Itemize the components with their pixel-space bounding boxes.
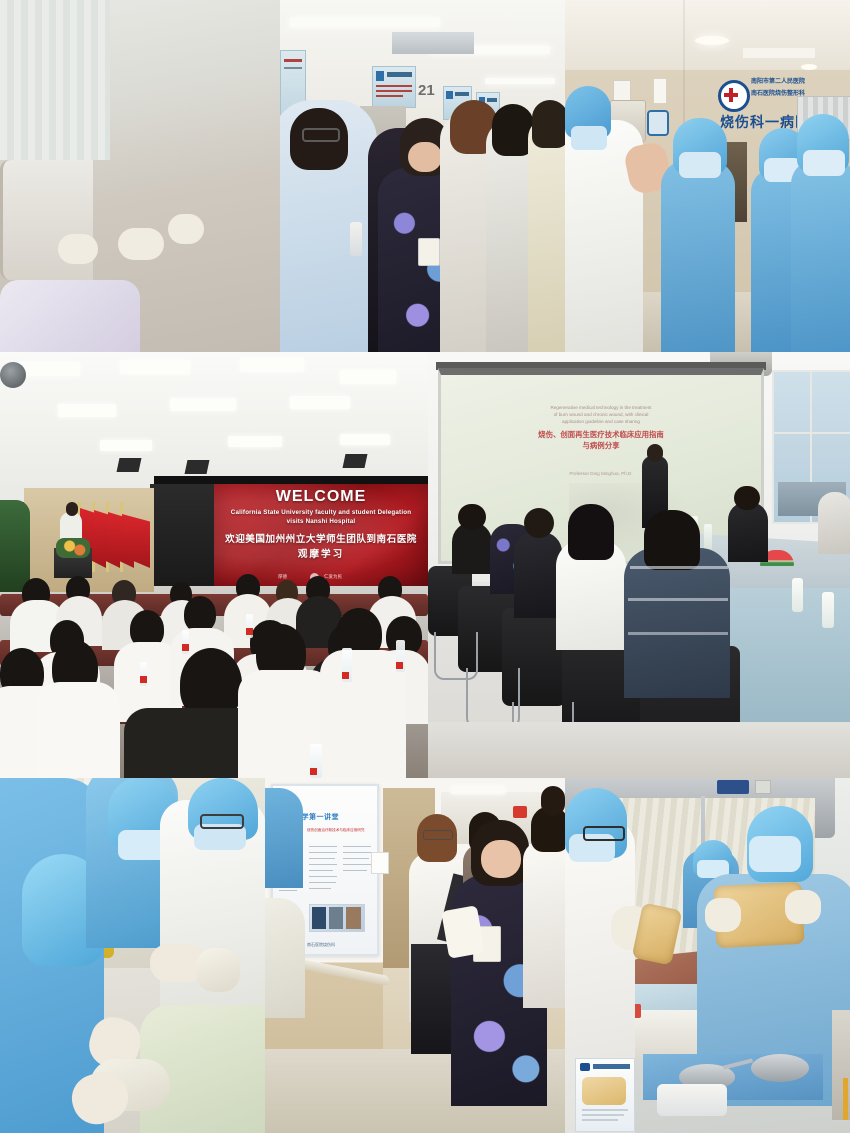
corridor-sign-nursing xyxy=(372,66,416,108)
hall-light-7 xyxy=(290,396,350,409)
poster-photo-strip xyxy=(309,904,365,932)
photo-skin-graft-demo: Nurse in blue gown holding up a sheet of… xyxy=(565,778,850,1133)
collage-row-1: Two medical staff in blue surgical caps … xyxy=(0,0,850,352)
box-product-image xyxy=(582,1077,626,1105)
water-bottle-4 xyxy=(342,648,352,682)
water-bottle-5 xyxy=(396,640,405,672)
photo-hallway-tour: 生命科学第一讲堂 烧伤创面治疗新技术与临床应用研究 xyxy=(265,778,565,1133)
scene-delegation-corridor: 21 xyxy=(280,0,565,352)
slide-title-en-2: of burn wound and chronic wound, with cl… xyxy=(460,412,742,418)
attendee-3 xyxy=(514,532,562,618)
podium-flowers xyxy=(56,538,90,558)
poster-subheadline: 烧伤创面治疗新技术与临床应用研究 xyxy=(307,828,371,833)
equipment-panel xyxy=(717,780,749,794)
potted-plant xyxy=(0,500,30,592)
room-number: 21 xyxy=(418,82,440,108)
nurse-gloved-hand-left xyxy=(705,898,741,932)
collage-row-3: Three clinicians in blue gowns and caps … xyxy=(0,778,850,1133)
water-bottle-3 xyxy=(246,614,253,638)
hall-light-5 xyxy=(58,404,116,417)
nurse-mask xyxy=(749,836,801,872)
scene-burn-dressing xyxy=(0,0,280,352)
polo-stripe-1 xyxy=(630,566,728,569)
ward-ceiling xyxy=(565,0,850,70)
exit-sign xyxy=(513,806,527,818)
photo-welcome-ceremony: WELCOME California State University facu… xyxy=(0,352,428,778)
nurse-3-mask xyxy=(803,150,845,176)
water-bottle-1 xyxy=(140,662,147,686)
audience-body-16 xyxy=(36,682,120,778)
slide-title-cn-1: 烧伤、创面再生医疗技术临床应用指南 xyxy=(473,430,729,440)
instrument-bowl-2 xyxy=(751,1054,809,1082)
delegate-yellow-top xyxy=(528,118,565,352)
hall-light-2 xyxy=(120,360,190,374)
delegate-white-shirt xyxy=(523,840,565,1008)
water-bottle-c6 xyxy=(792,578,803,612)
wall-notice-2 xyxy=(653,78,667,104)
ac-vent xyxy=(392,32,474,54)
water-bottle-c3 xyxy=(704,524,712,550)
window-curtain xyxy=(0,0,110,160)
welcome-chinese-2: 观摩学习 xyxy=(214,546,428,560)
photo-burn-ward-briefing: 南阳市第二人民医院 南石医院烧伤整形科 烧伤科一病区 xyxy=(565,0,850,352)
presenter-head xyxy=(647,444,663,462)
photo-burn-dressing-bedside: Two medical staff in blue surgical caps … xyxy=(0,0,280,352)
marker-pen-icon xyxy=(843,1078,848,1120)
polo-stripe-2 xyxy=(628,598,728,601)
patient-in-bed xyxy=(265,898,305,1018)
glasses-icon xyxy=(423,830,453,840)
attendee-1-head xyxy=(458,504,486,530)
hall-light-4 xyxy=(340,370,396,384)
screen-frame-top xyxy=(154,476,428,484)
slide-title-cn-2: 与病例分享 xyxy=(473,441,729,451)
safety-pictogram xyxy=(647,110,669,136)
glasses-icon xyxy=(302,128,340,142)
scene-hallway-tour: 生命科学第一讲堂 烧伤创面治疗新技术与临床应用研究 xyxy=(265,778,565,1133)
sterile-wrap xyxy=(657,1084,727,1116)
conference-floor xyxy=(428,722,850,778)
slide-title-en-3: application guideline and case sharing xyxy=(460,419,742,425)
poster-footer: 南石医院烧伤科 xyxy=(307,942,335,948)
glasses-icon xyxy=(200,814,244,829)
hall-light-10 xyxy=(340,434,390,445)
attendee-6 xyxy=(728,502,768,562)
scene-bedside-treatment xyxy=(0,778,265,1133)
audience-body-19 xyxy=(320,650,406,778)
stage-light-1 xyxy=(117,458,142,472)
delegate-floral-face xyxy=(408,142,442,172)
hall-light-6 xyxy=(170,398,236,411)
product-box xyxy=(575,1058,635,1132)
water-bottle xyxy=(350,222,362,256)
name-badge xyxy=(418,238,440,266)
welcome-subline-1: California State University faculty and … xyxy=(214,509,428,516)
ceiling-downlight-1 xyxy=(695,36,729,45)
ceiling-light-1 xyxy=(290,18,440,27)
nurse-1-gown xyxy=(661,160,735,352)
photo-collage: Two medical staff in blue surgical caps … xyxy=(0,0,850,1133)
welcome-headline: WELCOME xyxy=(214,488,428,506)
box-logo-icon xyxy=(580,1063,590,1071)
ceiling-light-3 xyxy=(485,78,555,84)
scene-conference-room: Regenerative medical technology in the t… xyxy=(428,352,850,778)
attendee-5-striped-polo xyxy=(624,548,730,698)
delegate-floral-face xyxy=(481,840,521,878)
welcome-subline-2: visits Nanshi Hospital xyxy=(214,518,428,525)
dressing-roll xyxy=(196,948,240,992)
nurse-gloved-hand-right xyxy=(785,890,821,924)
collage-row-2: WELCOME California State University facu… xyxy=(0,352,850,778)
hall-light-1 xyxy=(18,362,80,376)
doctor-mask xyxy=(571,126,607,150)
gloved-hand-a xyxy=(118,228,164,260)
water-bottle-2 xyxy=(182,630,189,654)
door-sign xyxy=(371,852,389,874)
attendee-3-head xyxy=(524,508,554,538)
ceiling-downlight-2 xyxy=(801,64,817,70)
welcome-led-screen: WELCOME California State University facu… xyxy=(214,482,428,586)
scene-burn-ward: 南阳市第二人民医院 南石医院烧伤整形科 烧伤科一病区 xyxy=(565,0,850,352)
photo-conference-lecture: Regenerative medical technology in the t… xyxy=(428,352,850,778)
slide-presenter: Professor Ding Minghua, Ph.D. xyxy=(505,471,697,476)
nurse-3-gown xyxy=(791,160,850,352)
hall-light-8 xyxy=(100,440,152,451)
gloved-hand-c xyxy=(168,214,204,244)
audience-head-11 xyxy=(184,596,216,632)
hall-light-3 xyxy=(240,358,304,372)
photo-delegation-corridor: 21 xyxy=(280,0,565,352)
patient-gown xyxy=(0,280,140,352)
glasses-icon xyxy=(583,826,625,841)
hospital-emblem-icon xyxy=(718,80,750,112)
photo-bedside-treatment: Three clinicians in blue gowns and caps … xyxy=(0,778,265,1133)
water-bottle-c7 xyxy=(822,592,834,628)
delegate-yellow-head xyxy=(532,100,565,148)
scene-welcome-hall: WELCOME California State University facu… xyxy=(0,352,428,778)
attendee-7 xyxy=(818,492,850,554)
equipment-display xyxy=(755,780,771,794)
disco-ball-icon xyxy=(0,362,26,388)
nurse-1-mask xyxy=(679,152,721,178)
hallway-light xyxy=(451,786,505,794)
hospital-name-line-1: 南阳市第二人民医院 xyxy=(751,78,823,86)
stage-light-2 xyxy=(185,460,210,474)
slide-title-en-1: Regenerative medical technology in the t… xyxy=(460,405,742,411)
foreground-staff xyxy=(265,788,303,888)
speaker-head xyxy=(66,502,78,516)
polo-stripe-3 xyxy=(628,632,728,635)
gloved-hand-b xyxy=(58,234,98,264)
ceiling-light-panel xyxy=(743,48,815,58)
water-bottle-6 xyxy=(310,744,322,778)
attendee-4-head xyxy=(568,504,614,560)
hall-light-9 xyxy=(228,436,282,447)
attendee-5-head xyxy=(644,510,700,570)
welcome-chinese-1: 欢迎美国加州州立大学师生团队到南石医院 xyxy=(214,531,428,545)
stage-backdrop xyxy=(150,484,214,586)
attendee-6-head xyxy=(734,486,760,510)
delegate-rear-head xyxy=(541,786,565,816)
stage-light-3 xyxy=(343,454,368,468)
scene-skin-graft-demo xyxy=(565,778,850,1133)
